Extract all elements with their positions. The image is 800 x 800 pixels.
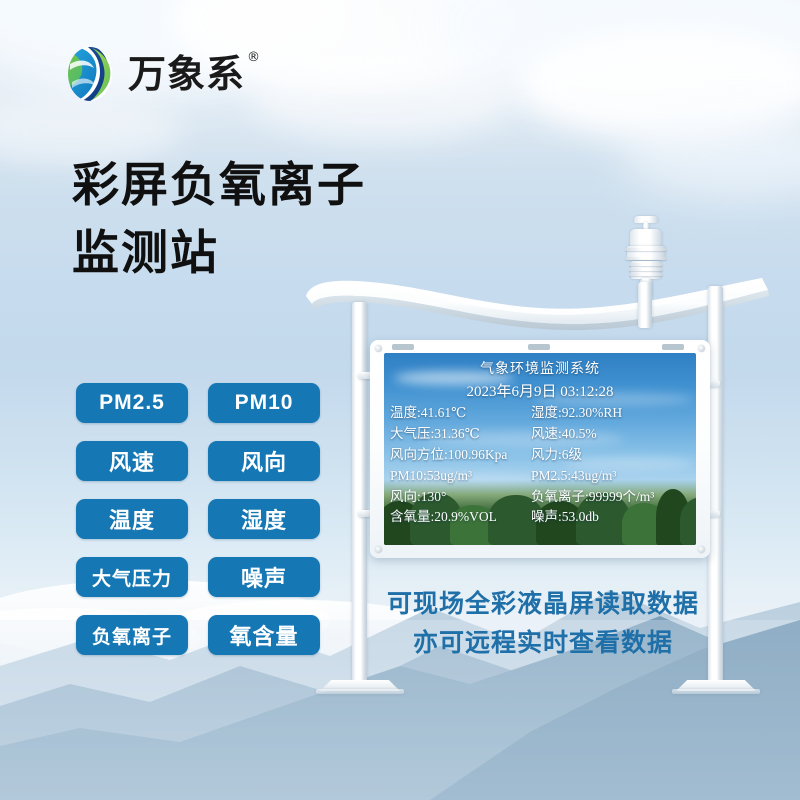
cabinet-top-tab xyxy=(662,344,684,350)
screen-title: 气象环境监测系统 xyxy=(384,358,696,378)
caption-block: 可现场全彩液晶屏读取数据 亦可远程实时查看数据 xyxy=(378,585,708,663)
screen-value-pm25: PM2.5:43ug/m³ xyxy=(531,468,690,485)
screen-value-wind-speed: 风速:40.5% xyxy=(531,426,690,443)
sensor-mast xyxy=(638,282,652,328)
screen-data-row: 大气压:31.36℃ 风速:40.5% xyxy=(384,426,696,443)
screen-data-row: PM10:53ug/m³ PM2.5:43ug/m³ xyxy=(384,468,696,485)
screen-value-wind-direction: 风向:130° xyxy=(390,489,531,506)
feature-tag-negative-oxygen-ion[interactable]: 负氧离子 xyxy=(76,615,188,655)
cabinet-top-tab xyxy=(528,344,550,350)
feature-tag-air-pressure[interactable]: 大气压力 xyxy=(76,557,188,597)
screen-value-temperature: 温度:41.61℃ xyxy=(390,405,531,422)
feature-tag-wind-speed[interactable]: 风速 xyxy=(76,441,188,481)
right-base-shadow xyxy=(672,689,760,694)
caption-line-2: 亦可远程实时查看数据 xyxy=(378,624,708,663)
screen-value-noise: 噪声:53.0db xyxy=(531,509,690,526)
product-poster: 万象系 ® 彩屏负氧离子 监测站 PM2.5 PM10 风速 风向 温度 湿度 … xyxy=(0,0,800,800)
cabinet-corner-screw xyxy=(375,345,382,352)
cabinet-corner-screw xyxy=(698,546,705,553)
curved-canopy xyxy=(300,268,770,340)
screen-datetime: 2023年6月9日 03:12:28 xyxy=(384,380,696,401)
lcd-display-cabinet[interactable]: 气象环境监测系统 2023年6月9日 03:12:28 温度:41.61℃ 湿度… xyxy=(370,340,710,558)
feature-tag-temperature[interactable]: 温度 xyxy=(76,499,188,539)
screen-value-oxygen-content: 含氧量:20.9%VOL xyxy=(390,509,531,526)
screen-data-row: 含氧量:20.9%VOL 噪声:53.0db xyxy=(384,509,696,526)
registered-trademark-icon: ® xyxy=(247,51,261,64)
screen-readout: 气象环境监测系统 2023年6月9日 03:12:28 温度:41.61℃ 湿度… xyxy=(384,353,696,545)
screen-data-row: 温度:41.61℃ 湿度:92.30%RH xyxy=(384,405,696,422)
left-base-shadow xyxy=(316,689,404,694)
screen-value-wind-bearing: 风向方位:100.96Kpa xyxy=(390,447,531,464)
brand-name: 万象系 ® xyxy=(128,55,245,93)
screen-value-negative-oxygen-ion: 负氧离子:99999个/m³ xyxy=(531,489,690,506)
brand-logo: 万象系 ® xyxy=(62,44,245,104)
cabinet-corner-screw xyxy=(698,345,705,352)
screen-data-row: 风向方位:100.96Kpa 风力:6级 xyxy=(384,447,696,464)
brand-name-text: 万象系 xyxy=(128,52,245,96)
screen-value-humidity: 湿度:92.30%RH xyxy=(531,405,690,422)
screen-value-wind-force: 风力:6级 xyxy=(531,447,690,464)
feature-tag-list: PM2.5 PM10 风速 风向 温度 湿度 大气压力 噪声 负氧离子 氧含量 xyxy=(76,383,336,655)
lcd-screen[interactable]: 气象环境监测系统 2023年6月9日 03:12:28 温度:41.61℃ 湿度… xyxy=(384,353,696,545)
caption-line-1: 可现场全彩液晶屏读取数据 xyxy=(378,585,708,624)
cabinet-corner-screw xyxy=(375,546,382,553)
right-support-post xyxy=(708,286,723,688)
screen-value-pm10: PM10:53ug/m³ xyxy=(390,468,531,485)
feature-tag-pm25[interactable]: PM2.5 xyxy=(76,383,188,423)
screen-value-air-pressure: 大气压:31.36℃ xyxy=(390,426,531,443)
cabinet-top-tab xyxy=(392,344,414,350)
screen-data-row: 风向:130° 负氧离子:99999个/m³ xyxy=(384,489,696,506)
left-support-post xyxy=(352,302,367,688)
globe-swirl-icon xyxy=(62,44,118,104)
